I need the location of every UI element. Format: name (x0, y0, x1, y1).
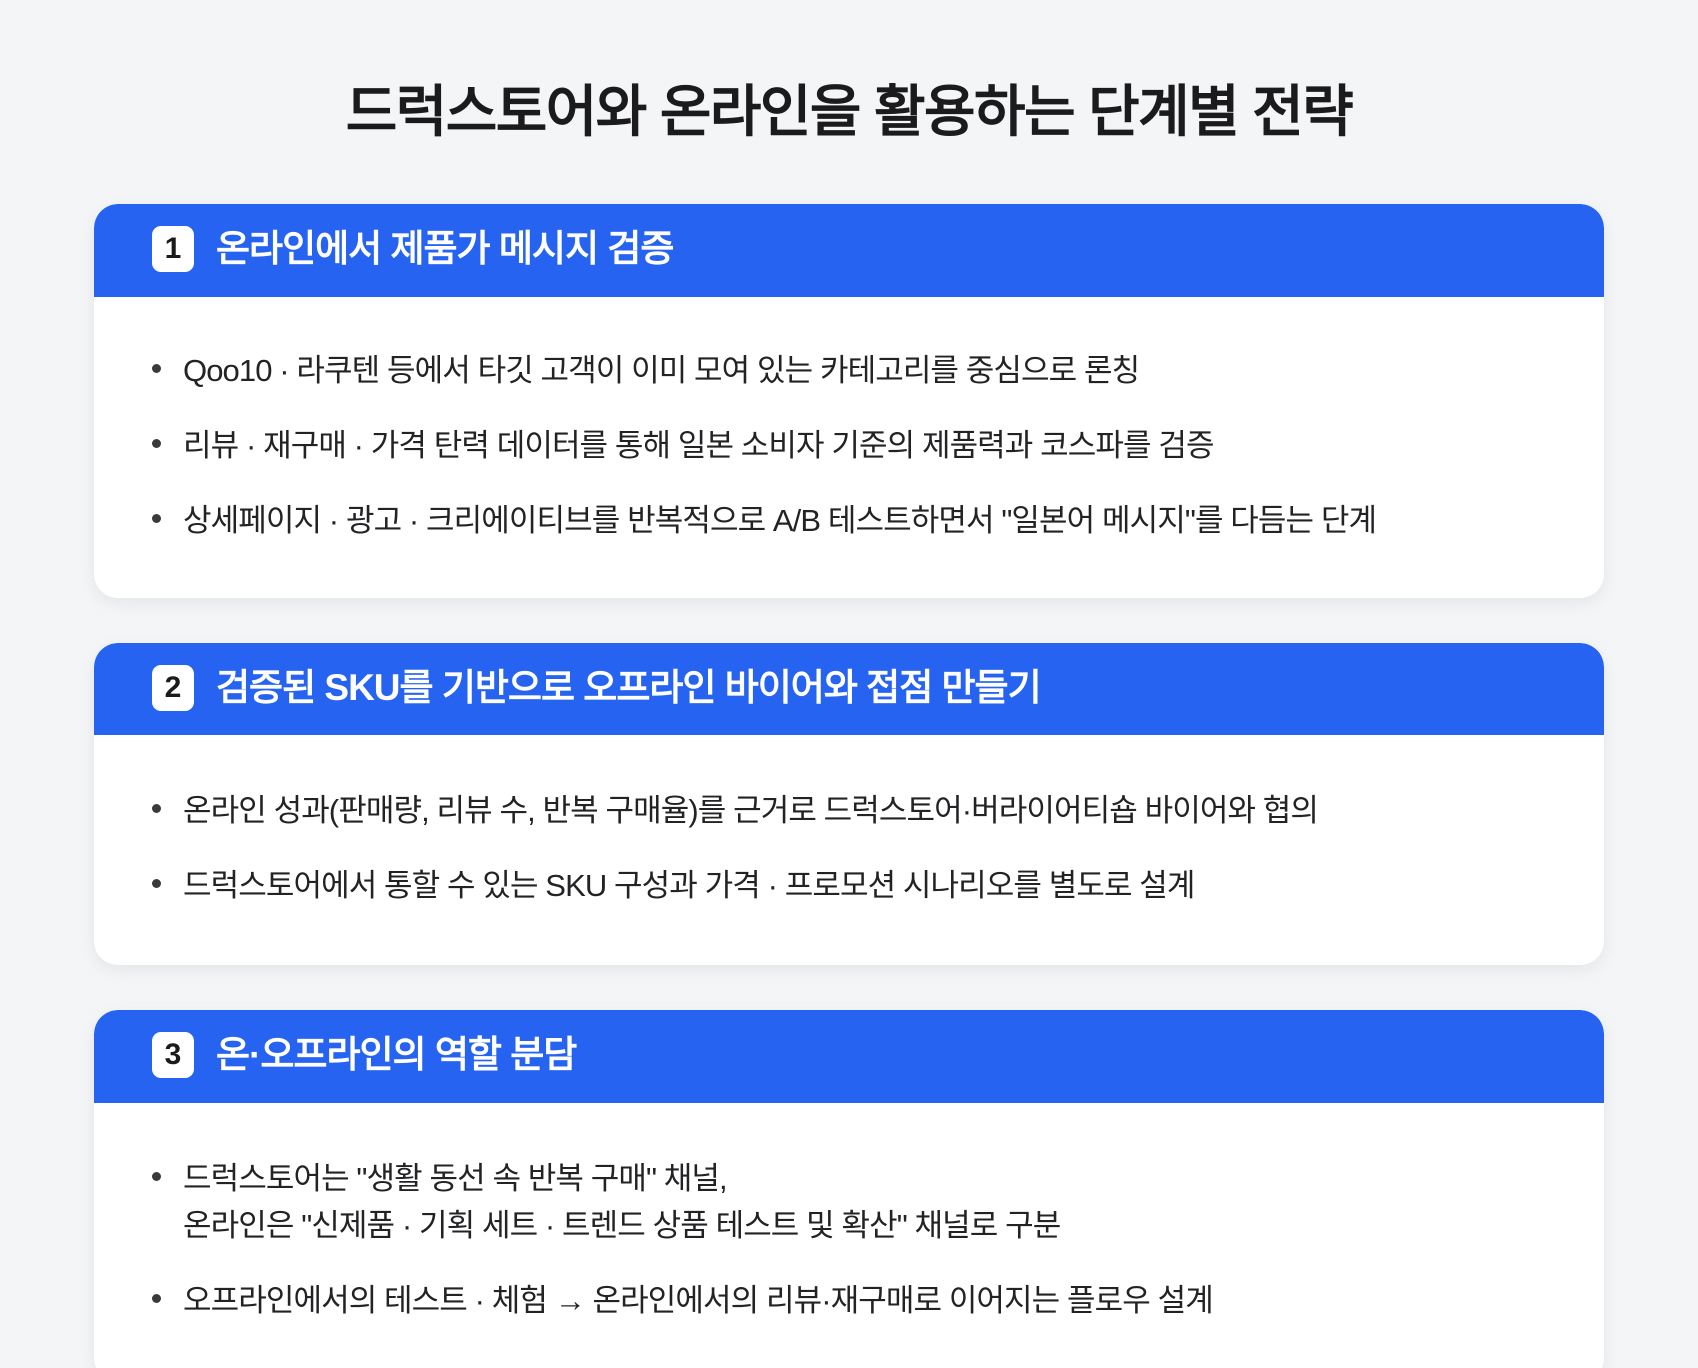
step-number-badge-3: 3 (152, 1032, 194, 1078)
list-item: 드럭스토어에서 통할 수 있는 SKU 구성과 가격 · 프로모션 시나리오를 … (152, 848, 1546, 923)
bullet-text: 오프라인에서의 테스트 · 체험 → 온라인에서의 리뷰·재구매로 이어지는 플… (183, 1277, 1213, 1324)
step-heading-3: 온·오프라인의 역할 분담 (216, 1032, 576, 1078)
bullet-dot-icon (152, 1172, 161, 1181)
bullet-dot-icon (152, 439, 161, 448)
step-body-2: 온라인 성과(판매량, 리뷰 수, 반복 구매율)를 근거로 드럭스토어·버라이… (94, 735, 1604, 965)
step-heading-2: 검증된 SKU를 기반으로 오프라인 바이어와 접점 만들기 (216, 665, 1041, 711)
step-number-badge-1: 1 (152, 226, 194, 272)
bullet-dot-icon (152, 1294, 161, 1303)
step-header-2: 2 검증된 SKU를 기반으로 오프라인 바이어와 접점 만들기 (94, 643, 1604, 735)
steps-container: 1 온라인에서 제품가 메시지 검증 Qoo10 · 라쿠텐 등에서 타깃 고객… (94, 146, 1604, 1368)
list-item: 리뷰 · 재구매 · 가격 탄력 데이터를 통해 일본 소비자 기준의 제품력과… (152, 408, 1546, 483)
step-heading-1: 온라인에서 제품가 메시지 검증 (216, 226, 673, 272)
step-header-1: 1 온라인에서 제품가 메시지 검증 (94, 204, 1604, 296)
bullet-text: Qoo10 · 라쿠텐 등에서 타깃 고객이 이미 모여 있는 카테고리를 중심… (183, 347, 1139, 394)
list-item: 드럭스토어는 "생활 동선 속 반복 구매" 채널, 온라인은 "신제품 · 기… (152, 1141, 1546, 1263)
step-body-3: 드럭스토어는 "생활 동선 속 반복 구매" 채널, 온라인은 "신제품 · 기… (94, 1103, 1604, 1368)
bullet-dot-icon (152, 879, 161, 888)
list-item: Qoo10 · 라쿠텐 등에서 타깃 고객이 이미 모여 있는 카테고리를 중심… (152, 333, 1546, 408)
step-card-1: 1 온라인에서 제품가 메시지 검증 Qoo10 · 라쿠텐 등에서 타깃 고객… (94, 204, 1604, 598)
bullet-dot-icon (152, 364, 161, 373)
bullet-text: 리뷰 · 재구매 · 가격 탄력 데이터를 통해 일본 소비자 기준의 제품력과… (183, 422, 1214, 469)
bullet-dot-icon (152, 804, 161, 813)
list-item: 온라인 성과(판매량, 리뷰 수, 반복 구매율)를 근거로 드럭스토어·버라이… (152, 773, 1546, 848)
step-number-badge-2: 2 (152, 665, 194, 711)
bullet-text: 상세페이지 · 광고 · 크리에이티브를 반복적으로 A/B 테스트하면서 "일… (183, 497, 1376, 544)
bullet-text: 드럭스토어는 "생활 동선 속 반복 구매" 채널, 온라인은 "신제품 · 기… (183, 1155, 1060, 1249)
list-item: 상세페이지 · 광고 · 크리에이티브를 반복적으로 A/B 테스트하면서 "일… (152, 483, 1546, 558)
step-body-1: Qoo10 · 라쿠텐 등에서 타깃 고객이 이미 모여 있는 카테고리를 중심… (94, 297, 1604, 598)
bullet-text: 온라인 성과(판매량, 리뷰 수, 반복 구매율)를 근거로 드럭스토어·버라이… (183, 787, 1318, 834)
step-card-3: 3 온·오프라인의 역할 분담 드럭스토어는 "생활 동선 속 반복 구매" 채… (94, 1010, 1604, 1368)
list-item: 오프라인에서의 테스트 · 체험 → 온라인에서의 리뷰·재구매로 이어지는 플… (152, 1263, 1546, 1338)
bullet-text: 드럭스토어에서 통할 수 있는 SKU 구성과 가격 · 프로모션 시나리오를 … (183, 862, 1195, 909)
step-header-3: 3 온·오프라인의 역할 분담 (94, 1010, 1604, 1102)
page-title: 드럭스토어와 온라인을 활용하는 단계별 전략 (0, 0, 1698, 146)
bullet-dot-icon (152, 514, 161, 523)
step-card-2: 2 검증된 SKU를 기반으로 오프라인 바이어와 접점 만들기 온라인 성과(… (94, 643, 1604, 965)
infographic-page: 드럭스토어와 온라인을 활용하는 단계별 전략 1 온라인에서 제품가 메시지 … (0, 0, 1698, 1368)
